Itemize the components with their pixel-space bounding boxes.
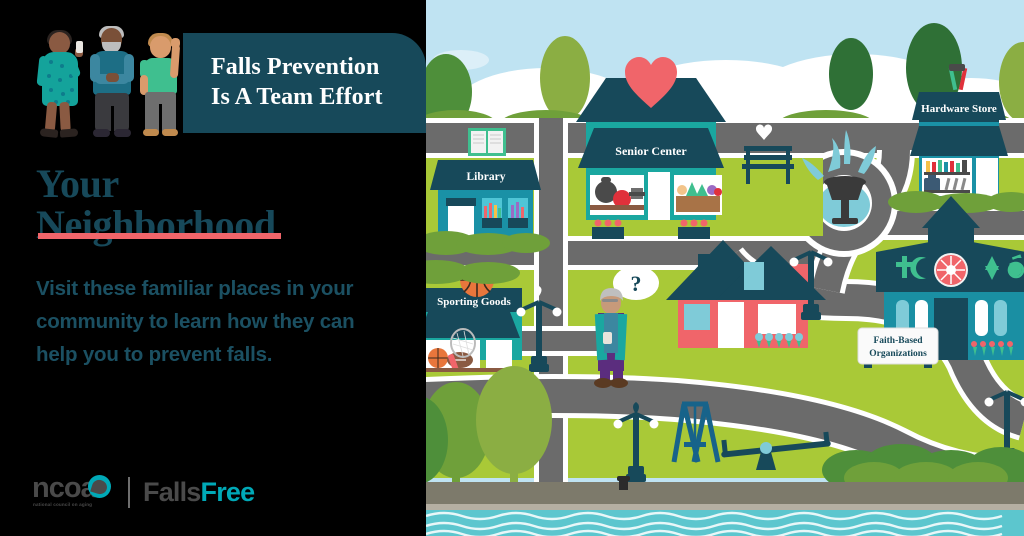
library-bushes — [426, 231, 550, 255]
head — [49, 32, 70, 54]
left-shoe — [143, 129, 159, 136]
ncoa-logo: ncoa national council on aging — [32, 472, 118, 512]
ncoa-tagline: national council on aging — [33, 502, 92, 507]
swing-seat — [684, 442, 706, 447]
right-arm-raised — [170, 44, 180, 78]
faith-label-line2: Organizations — [869, 349, 927, 359]
sporting-goods-label: Sporting Goods — [437, 296, 511, 308]
hands — [106, 73, 119, 82]
poster-root: Library Senior Center — [0, 0, 1024, 536]
logo-lockup: ncoa national council on aging FallsFree — [32, 470, 254, 514]
headline-rule — [38, 233, 281, 239]
walkway — [426, 482, 1024, 504]
ncoa-wordmark: ncoa — [32, 474, 96, 503]
left-shoe — [40, 128, 59, 138]
fallsfree-second: Free — [201, 477, 255, 507]
left-content-panel: Falls Prevention Is A Team Effort Your N… — [0, 0, 426, 536]
senior-center-label: Senior Center — [615, 144, 687, 158]
neighborhood-map: Library Senior Center — [426, 0, 1024, 536]
body-copy: Visit these familiar places in your comm… — [36, 272, 356, 372]
people-illustration — [38, 26, 174, 138]
badge-line-2: Is A Team Effort — [211, 83, 426, 113]
fallsfree-first: Falls — [143, 477, 201, 507]
phone-icon — [76, 41, 83, 53]
badge-line-1: Falls Prevention — [211, 53, 426, 83]
question-mark: ? — [631, 271, 642, 296]
faith-label-line1: Faith-Based — [873, 336, 923, 346]
right-leg — [59, 102, 71, 132]
person-woman-with-phone — [38, 30, 84, 138]
person-woman-waving — [140, 30, 184, 138]
left-shoe — [93, 129, 110, 137]
library-label: Library — [467, 171, 506, 183]
headline-line-2: Neighborhood — [36, 204, 376, 245]
logo-divider — [128, 477, 130, 508]
right-hand — [171, 38, 180, 48]
ncoa-swoosh-icon — [88, 475, 111, 498]
headline-line-1: Your — [36, 163, 376, 204]
person-older-man — [90, 26, 134, 138]
right-shoe — [60, 128, 79, 137]
title-badge: Falls Prevention Is A Team Effort — [183, 33, 426, 133]
head — [150, 36, 171, 58]
fallsfree-wordmark: FallsFree — [143, 477, 254, 508]
hardware-store-label: Hardware Store — [921, 103, 997, 115]
right-shoe — [114, 129, 131, 137]
right-shoe — [162, 129, 178, 136]
